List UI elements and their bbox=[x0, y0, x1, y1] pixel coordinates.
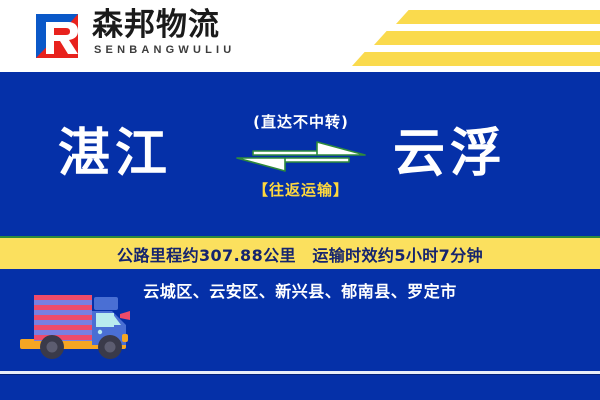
header-stripes-decoration bbox=[330, 0, 600, 72]
stripe-1 bbox=[396, 10, 600, 24]
brand-name-en: SENBANGWULIU bbox=[94, 44, 235, 56]
stripe-3 bbox=[352, 52, 600, 66]
bottom-divider-shadow bbox=[0, 374, 600, 375]
route-info-text: 公路里程约307.88公里 运输时效约5小时7分钟 bbox=[117, 242, 483, 266]
route-note-roundtrip: 【往返运输】 bbox=[206, 180, 396, 200]
route-note-direct: (直达不中转) bbox=[206, 112, 396, 132]
stripe-2 bbox=[374, 31, 600, 45]
origin-city: 湛江 bbox=[58, 124, 172, 184]
route-arrow-block: (直达不中转) 【往返运输】 bbox=[206, 112, 396, 222]
senbang-r-logo-icon bbox=[28, 10, 86, 62]
destination-city: 云浮 bbox=[393, 124, 507, 184]
brand-name-cn: 森邦物流 bbox=[92, 6, 220, 44]
coverage-areas-text: 云城区、云安区、新兴县、郁南县、罗定市 bbox=[143, 282, 457, 301]
logistics-route-banner: 森邦物流 SENBANGWULIU 湛江 云浮 (直达不中转) 【往返运输】 公… bbox=[0, 0, 600, 400]
route-info-band: 公路里程约307.88公里 运输时效约5小时7分钟 bbox=[0, 236, 600, 269]
bidirectional-arrow-icon bbox=[206, 140, 396, 174]
banner-header: 森邦物流 SENBANGWULIU bbox=[0, 0, 600, 72]
delivery-truck-icon bbox=[14, 287, 138, 361]
